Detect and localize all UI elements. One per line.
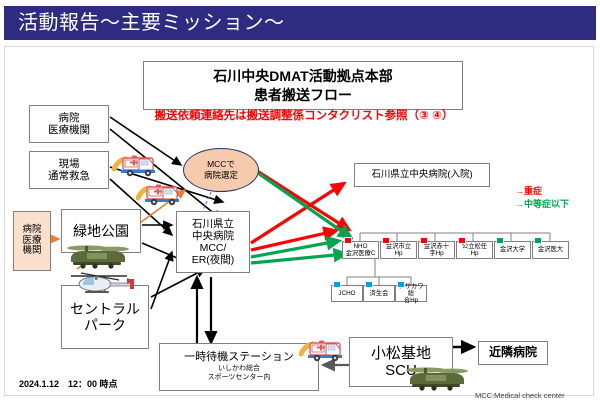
- node-hospital-facility-1-line1: 病院: [59, 112, 80, 124]
- hospital-severity-badge-blue: [365, 281, 373, 288]
- slide-root: 活動報告～主要ミッション～: [0, 0, 600, 400]
- military-helicopter-icon: [404, 365, 470, 398]
- node-ishikawa-central-admission-label: 石川県立中央病院(入院): [371, 170, 472, 181]
- node-hospital-facility-2-line3: 機関: [22, 246, 41, 257]
- hospital-severity-badge-blue: [333, 281, 341, 288]
- node-komatsu-scu-line1: 小松基地: [371, 345, 431, 362]
- ambulance-icon: [299, 338, 347, 369]
- hospital-node-label: JCHO: [338, 290, 355, 297]
- mcc-footnote: MCC:Medical check center: [475, 391, 565, 400]
- hospital-node-label: 済生会: [370, 290, 389, 297]
- hospital-node-label-line2: 字Hp: [424, 250, 449, 257]
- flow-title-line2: 患者搬送フロー: [148, 86, 458, 105]
- node-scene-ems: 現場 通常救急: [29, 151, 109, 189]
- node-ishikawa-central-admission: 石川県立中央病院(入院): [354, 163, 490, 187]
- slide-header-bar: 活動報告～主要ミッション～: [4, 6, 596, 40]
- timestamp-label: 2024.1.12 12：00 時点: [19, 377, 118, 390]
- ambulance-icon: [136, 182, 184, 213]
- flow-title-line1: 石川中央DMAT活動拠点本部: [148, 67, 458, 86]
- node-green-park-label: 緑地公園: [73, 223, 129, 239]
- node-hospital-facility-2: 病院 医療 機関: [13, 211, 51, 271]
- node-temporary-station-sub2: スポーツセンター内: [208, 374, 271, 383]
- hospital-node-label-line2: Hp: [386, 250, 411, 257]
- node-mcc-selection-line2: 病院選定: [204, 170, 238, 181]
- hospital-node-label: NHO金沢医療C: [346, 243, 376, 257]
- hospital-node-label-line2: 金沢医療C: [346, 250, 376, 257]
- node-mcc-selection-line1: MCCで: [207, 159, 235, 170]
- hospital-node-label-line2: Hp: [462, 250, 487, 257]
- node-mcc-er-line2: 中央病院: [192, 230, 234, 242]
- legend-moderate: →中等症以下: [515, 198, 569, 211]
- node-mcc-er-line4: ER(夜間): [192, 254, 235, 266]
- node-scene-ems-line1: 現場: [59, 158, 80, 170]
- hospital-node-label: 金沢大学: [500, 246, 525, 253]
- flow-arrows-vertical: [197, 277, 211, 343]
- diagram-canvas: 石川中央DMAT活動拠点本部 患者搬送フロー 搬送依頼連絡先は搬送調整係コンタク…: [4, 46, 594, 396]
- hospital-node-label-line2: 合Hp: [397, 297, 425, 304]
- hospital-severity-badge-red: [382, 237, 390, 244]
- node-hospital-facility-2-line1: 病院: [22, 225, 41, 236]
- node-temporary-station-sub1: いしかわ総合: [218, 365, 260, 374]
- hospital-node-label: 金沢赤十字Hp: [424, 243, 449, 257]
- hospital-severity-badge-green: [534, 237, 542, 244]
- node-scene-ems-line2: 通常救急: [48, 170, 90, 182]
- node-mcc-selection: MCCで 病院選定: [183, 148, 259, 192]
- flow-title-note: 搬送依頼連絡先は搬送調整係コンタクリスト参照（③ ④）: [124, 110, 484, 124]
- hospital-severity-badge-red: [420, 237, 428, 244]
- hospital-node-label: 金沢市立Hp: [386, 243, 411, 257]
- legend-severe: →重症: [515, 185, 569, 198]
- page-title: 活動報告～主要ミッション～: [4, 13, 285, 33]
- flow-arrows-moderate: [251, 173, 350, 263]
- hospital-severity-badge-blue: [397, 281, 405, 288]
- hospital-node-label: 金沢医大: [538, 246, 563, 253]
- node-mcc-er-line3: MCC/: [200, 242, 227, 254]
- node-central-park-line2: パーク: [84, 317, 126, 333]
- flow-title-block: 石川中央DMAT活動拠点本部 患者搬送フロー: [143, 61, 463, 110]
- node-nearby-hospital: 近隣病院: [478, 341, 548, 365]
- hospital-severity-badge-green: [496, 237, 504, 244]
- severity-legend: →重症 →中等症以下: [515, 185, 569, 211]
- ambulance-icon: [112, 153, 160, 184]
- node-mcc-er-line1: 石川県立: [192, 218, 234, 230]
- node-temporary-station: 一時待機ステーション いしかわ総合 スポーツセンター内: [159, 343, 319, 391]
- node-hospital-facility-1: 病院 医療機関: [29, 105, 109, 143]
- node-central-park-line1: セントラル: [70, 301, 140, 317]
- hospital-severity-badge-red: [344, 237, 352, 244]
- hospital-severity-badge-red: [458, 237, 466, 244]
- node-nearby-hospital-label: 近隣病院: [489, 346, 537, 360]
- helicopter-icon: [67, 271, 141, 302]
- hospital-node-label: 公立松任Hp: [462, 243, 487, 257]
- node-temporary-station-title: 一時待機ステーション: [184, 351, 294, 364]
- node-mcc-er: 石川県立 中央病院 MCC/ ER(夜間): [176, 211, 250, 273]
- node-hospital-facility-1-line2: 医療機関: [48, 124, 90, 136]
- flow-arrows-severe: [251, 169, 348, 250]
- connector-mcc-to-er: [203, 192, 211, 210]
